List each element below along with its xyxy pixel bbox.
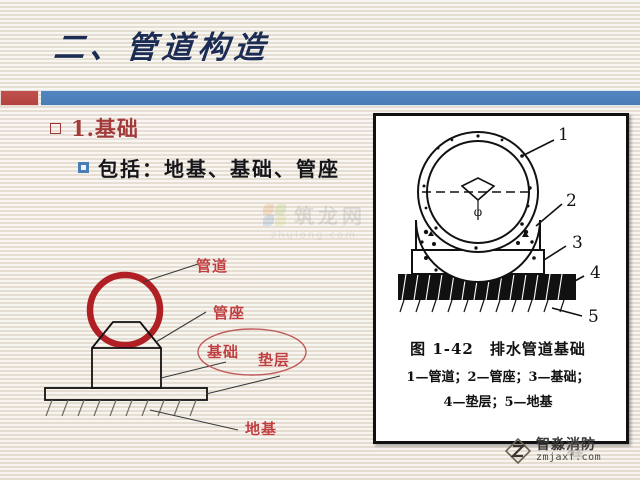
sketch-bedding-bar — [45, 388, 207, 400]
divider-bar-red — [0, 90, 39, 106]
zhulong-cn-text: 筑龙网 — [294, 200, 366, 229]
sketch-container: 管道 管座 基础 垫层 地基 — [30, 250, 360, 450]
sketch-label-pipe: 管道 — [196, 255, 228, 276]
figure-callout-4: 4 — [590, 263, 601, 283]
sketch-subgrade-hatching — [46, 400, 196, 416]
zhulong-flower-icon — [262, 202, 288, 228]
zmjaxf-logo-icon — [505, 438, 531, 464]
slide-canvas: 二、管道构造 1.基础 包括：地基、基础、管座 筑龙网 zhulong.com — [0, 0, 640, 480]
bullet-level2: 包括：地基、基础、管座 — [78, 153, 340, 182]
sketch-base-block — [92, 348, 161, 388]
sketch-label-bedding: 垫层 — [258, 349, 290, 370]
figure-caption-line2: 4—垫层；5—地基 — [376, 391, 620, 410]
figure-callout-2: 2 — [566, 191, 577, 211]
divider-bar-blue — [41, 90, 640, 106]
bullet-level1-label: 1.基础 — [71, 113, 139, 143]
figure-caption-line1: 1—管道；2—管座；3—基础； — [376, 366, 620, 385]
figure-phi-label: φ — [474, 205, 482, 219]
figure-callout-3: 3 — [572, 233, 583, 253]
bullet-level2-label: 包括：地基、基础、管座 — [98, 153, 340, 182]
figure-callout-5: 5 — [588, 307, 599, 327]
sketch-label-subgrade: 地基 — [245, 418, 277, 439]
watermark-zhulong: 筑龙网 zhulong.com — [262, 200, 366, 241]
figure-svg: φ 1 2 3 4 5 — [376, 116, 620, 331]
watermark-zmjaxf: 智淼消防 zmjaxf.com 程 — [505, 438, 601, 464]
page-title: 二、管道构造 — [52, 22, 272, 67]
blue-square-bullet-icon — [78, 162, 89, 173]
sketch-label-cradle: 管座 — [213, 302, 245, 323]
bullet-level1: 1.基础 — [50, 113, 139, 143]
hollow-square-bullet-icon — [50, 123, 61, 134]
figure-callout-1: 1 — [558, 125, 569, 145]
zmjaxf-ghost-text: 程 — [567, 436, 584, 461]
zhulong-en-text: zhulong.com — [271, 230, 357, 241]
sketch-label-base: 基础 — [207, 341, 239, 362]
figure-caption-title: 图 1-42 排水管道基础 — [376, 338, 620, 359]
sketch-svg — [30, 250, 360, 450]
figure-panel: φ 1 2 3 4 5 图 1-42 排水管道基础 1—管道；2—管座；3—基础… — [373, 113, 629, 444]
